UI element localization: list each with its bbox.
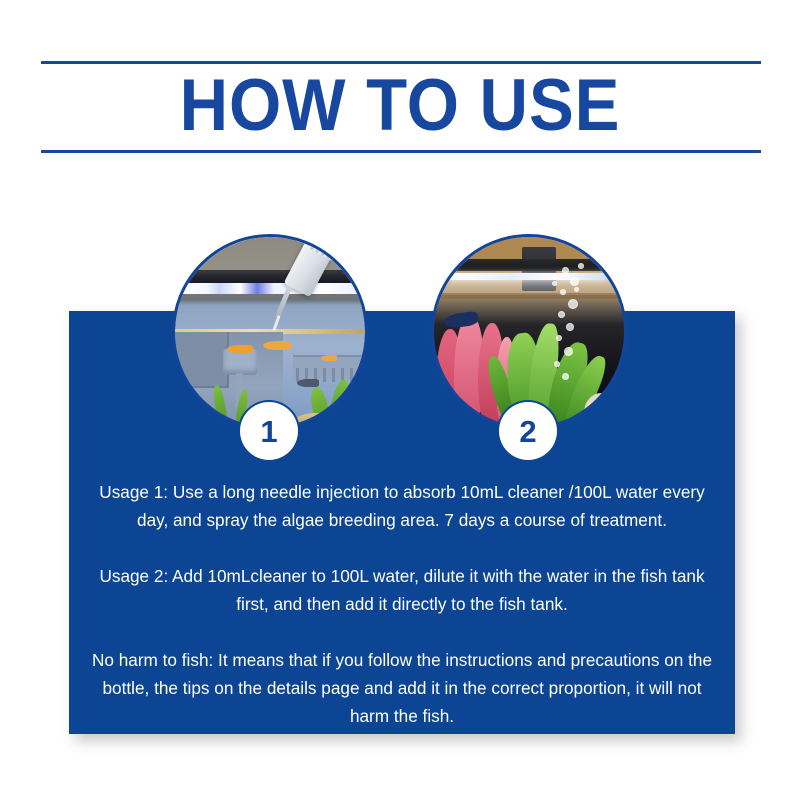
- air-bubble: [568, 299, 578, 309]
- instructions-text: Usage 1: Use a long needle injection to …: [85, 478, 719, 730]
- fish: [321, 355, 337, 361]
- air-bubble: [552, 281, 557, 286]
- fish: [193, 395, 209, 401]
- step-2-photo-circle: [431, 234, 627, 430]
- air-bubble: [556, 335, 562, 341]
- step-2: 2: [431, 234, 627, 430]
- step-2-number-badge: 2: [499, 402, 557, 460]
- led-strip-icon: [175, 283, 365, 294]
- fish: [227, 345, 253, 353]
- air-bubble: [570, 277, 579, 286]
- tank-hood: [444, 259, 624, 271]
- air-bubble: [574, 287, 579, 292]
- fish: [297, 379, 319, 387]
- header: HOW TO USE: [0, 0, 800, 215]
- air-bubble: [562, 267, 569, 274]
- light-fixture-bar: [175, 270, 365, 284]
- aquarium-dropper-bottle-photo: [175, 237, 365, 427]
- air-bubble: [566, 323, 574, 331]
- led-strip-icon: [448, 273, 608, 280]
- step-1-photo-circle: [172, 234, 368, 430]
- air-bubble: [562, 373, 569, 380]
- how-to-use-infographic: HOW TO USE: [0, 0, 800, 800]
- no-harm-paragraph: No harm to fish: It means that if you fo…: [85, 646, 719, 730]
- fish: [263, 341, 291, 350]
- step-1-number-badge: 1: [240, 402, 298, 460]
- usage-1-paragraph: Usage 1: Use a long needle injection to …: [85, 478, 719, 534]
- planted-aquarium-bubbles-photo: [434, 237, 624, 427]
- shell-ornament: [584, 393, 618, 427]
- usage-2-paragraph: Usage 2: Add 10mLcleaner to 100L water, …: [85, 562, 719, 618]
- air-bubble: [554, 361, 560, 367]
- step-1: 1: [172, 234, 368, 430]
- fish: [175, 377, 191, 384]
- air-bubble: [564, 347, 573, 356]
- title-rule-bottom: [41, 150, 761, 153]
- page-title: HOW TO USE: [32, 60, 768, 152]
- air-bubble: [578, 263, 584, 269]
- air-bubble: [558, 311, 565, 318]
- air-bubble: [560, 289, 566, 295]
